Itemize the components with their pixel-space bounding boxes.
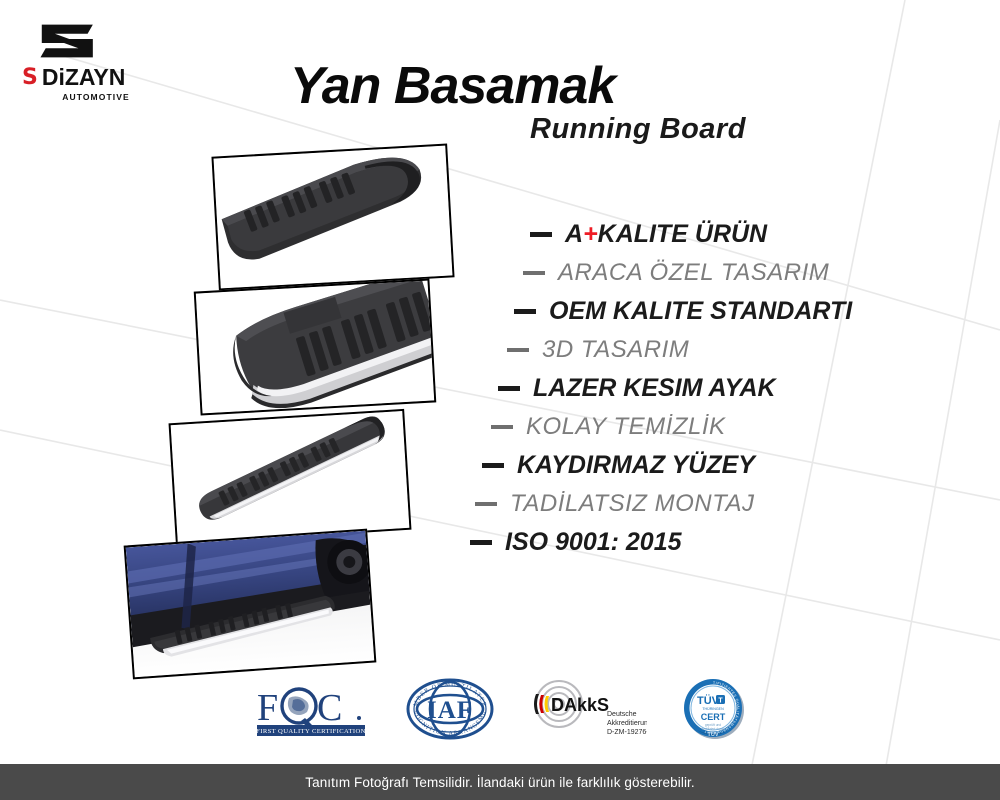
feature-label: 3D TASARIM [542,338,689,362]
disclaimer-text: Tanıtım Fotoğrafı Temsilidir. İlandaki ü… [305,775,695,790]
dakks-wordmark: DAkkS [551,695,609,715]
feature-item: TADİLATSIZ MONTAJ [475,492,940,516]
feature-label: ARACA ÖZEL TASARIM [558,261,829,285]
feature-label: KAYDIRMAZ YÜZEY [517,453,755,478]
feature-plus-accent: + [583,220,598,248]
page-subtitle: Running Board [530,113,746,146]
feature-item: 3D TASARIM [507,338,940,362]
tuv-cert-seal-logo: ZERTIFIZIERTES QUALITÄTSMANAGEMENT TÜV T… [681,676,747,742]
feature-item: KOLAY TEMİZLİK [491,415,940,439]
logo-initial: S [22,67,37,89]
logo-name: DiZAYN [42,66,126,89]
feature-label: TADİLATSIZ MONTAJ [510,492,755,516]
bullet-dash-icon [491,425,513,429]
svg-text:zertifiziert durch: zertifiziert durch [702,727,725,731]
fqc-caption: FIRST QUALITY CERTIFICATION [256,728,366,735]
svg-text:T: T [718,697,723,704]
bullet-dash-icon [498,386,520,391]
bullet-dash-icon [530,232,552,237]
feature-item: KAYDIRMAZ YÜZEY [482,453,940,478]
tuv-sub: THÜRINGEN [702,707,724,711]
brand-logo: S DiZAYN AUTOMOTIVE [22,18,152,102]
product-advertisement-banner: S DiZAYN AUTOMOTIVE Yan Basamak Running … [0,0,1000,800]
dakks-line3: D-ZM-19276-01-00 [607,729,647,736]
disclaimer-bar: Tanıtım Fotoğrafı Temsilidir. İlandaki ü… [0,764,1000,800]
bullet-dash-icon [482,463,504,468]
certification-logos: F C FIRST QUALITY CERTIFICATION IAF MEMB… [0,676,1000,742]
svg-text:IAF: IAF [427,697,473,724]
svg-text:F: F [257,687,278,729]
feature-label: ISO 9001: 2015 [505,530,682,555]
svg-text:C: C [317,687,342,729]
feature-item: OEM KALITE STANDARTI [514,299,940,324]
logo-tagline: AUTOMOTIVE [40,92,152,102]
iaf-certification-logo: IAF MEMBER OF MULTILATERAL RECOGNITION A… [405,678,495,740]
feature-label: OEM KALITE STANDARTI [549,299,852,324]
dakks-certification-logo: DAkkS Deutsche Akkreditierungsstelle D-Z… [529,678,647,740]
tuv-cert-text: CERT [701,712,726,722]
feature-label: LAZER KESIM AYAK [533,376,776,401]
feature-text-b: KALITE ÜRÜN [598,220,767,248]
s-dizayn-logo-mark [30,18,102,64]
product-image-panel-4 [124,529,377,680]
bullet-dash-icon [470,540,492,545]
bullet-dash-icon [507,348,529,352]
dakks-line1: Deutsche [607,711,637,718]
feature-label: KOLAY TEMİZLİK [526,415,726,439]
product-image-panel-2 [194,279,437,416]
product-image-panel-3 [169,409,412,544]
feature-item: A+KALITE ÜRÜN [530,222,940,247]
feature-item: ARACA ÖZEL TASARIM [523,261,940,285]
product-image-panel-1 [211,144,454,291]
dakks-line2: Akkreditierungsstelle [607,720,647,727]
bullet-dash-icon [523,271,545,275]
page-title: Yan Basamak [290,56,615,116]
feature-list: A+KALITE ÜRÜN ARACA ÖZEL TASARIM OEM KAL… [470,222,940,555]
feature-item: LAZER KESIM AYAK [498,376,940,401]
svg-text:TÜV: TÜV [708,731,719,738]
fqc-certification-logo: F C FIRST QUALITY CERTIFICATION [253,678,371,740]
feature-item: ISO 9001: 2015 [470,530,940,555]
feature-text-a: A [565,220,583,248]
bullet-dash-icon [475,502,497,506]
bullet-dash-icon [514,309,536,314]
